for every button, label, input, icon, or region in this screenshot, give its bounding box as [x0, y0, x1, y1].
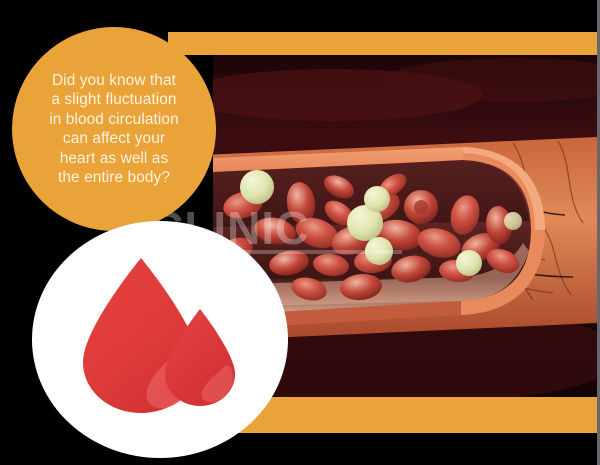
blood-drops-icon	[67, 250, 253, 425]
infographic-canvas: CLINIC Did you know that a slight fluctu…	[0, 0, 600, 465]
top-orange-band	[168, 32, 597, 55]
blood-drops-badge	[32, 221, 288, 458]
did-you-know-callout: Did you know that a slight fluctuation i…	[12, 27, 216, 231]
callout-text: Did you know that a slight fluctuation i…	[21, 71, 207, 188]
